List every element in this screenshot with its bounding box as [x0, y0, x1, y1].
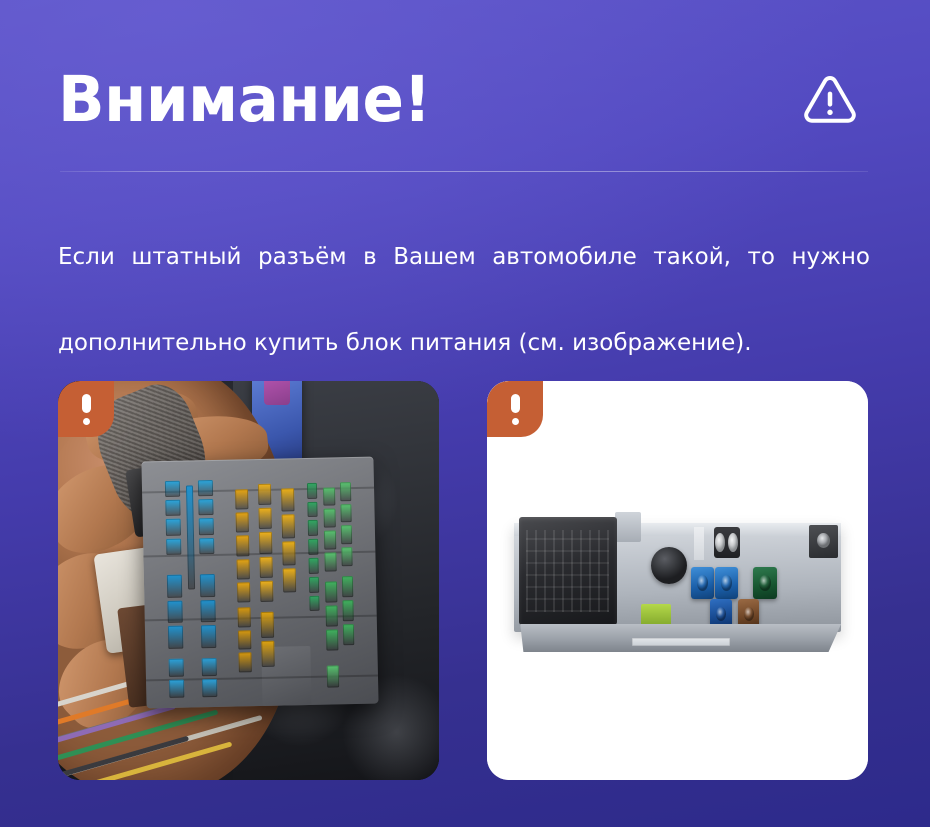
photo-pin — [340, 503, 352, 522]
photo-pin — [325, 605, 337, 626]
photo-pin-block — [323, 487, 336, 571]
photo-pin — [309, 595, 320, 611]
photo-pin — [167, 600, 183, 623]
power-supply-module — [514, 523, 842, 633]
module-label — [632, 638, 730, 646]
module-connector-pins — [526, 530, 609, 612]
photo-pin — [199, 574, 215, 597]
photo-pin — [340, 525, 352, 544]
photo-pin — [327, 665, 339, 687]
exclamation-badge — [58, 381, 114, 437]
module-rca-pair — [714, 527, 740, 558]
page-title: Внимание! — [58, 65, 431, 135]
photo-pin — [259, 532, 272, 554]
photo-pin — [236, 535, 249, 556]
photo-pin-block — [186, 485, 195, 589]
photo-pin — [323, 509, 335, 528]
photo-pin-block — [261, 612, 275, 667]
photo-pin — [200, 625, 216, 648]
photo-pin — [282, 514, 295, 538]
photo-pink-clip — [264, 381, 291, 405]
photo-pin — [201, 658, 216, 677]
banner-header: Внимание! — [58, 52, 872, 148]
photo-pin — [259, 556, 272, 578]
photo-pin — [281, 488, 294, 512]
photo-pin — [169, 680, 184, 699]
image-row — [58, 381, 868, 780]
photo-pin — [324, 552, 336, 571]
photo-pin — [237, 582, 250, 603]
photo-pin-block — [167, 574, 184, 649]
photo-pin-block — [325, 581, 338, 650]
exclamation-bar — [82, 394, 91, 413]
photo-pin — [342, 624, 354, 645]
photo-pin — [283, 568, 296, 592]
photo-pin — [200, 599, 216, 622]
photo-pin — [309, 576, 320, 592]
photo-pin — [235, 489, 248, 510]
exclamation-dot — [83, 418, 90, 425]
photo-pin — [258, 508, 271, 530]
photo-pin-block — [327, 665, 339, 687]
photo-pin-block — [201, 658, 217, 698]
fakra-blue-2 — [715, 567, 738, 600]
rca-jack — [728, 533, 738, 552]
photo-pin-block — [339, 482, 352, 566]
rca-jack — [715, 533, 725, 552]
photo-pin-block — [199, 574, 216, 649]
photo-pin — [341, 547, 353, 566]
photo-pin — [260, 581, 273, 603]
photo-pin — [166, 538, 181, 555]
photo-pin — [198, 499, 213, 516]
exclamation-bar — [511, 394, 520, 413]
photo-pin — [258, 483, 271, 505]
card-power-supply-photo[interactable] — [487, 381, 868, 780]
module-green-key — [641, 604, 670, 626]
photo-grey-connector-body — [141, 456, 379, 708]
power-supply-photo — [487, 381, 868, 780]
photo-pin — [308, 539, 319, 555]
fakra-green — [753, 567, 778, 600]
photo-pin-block — [169, 658, 185, 698]
photo-pin — [326, 629, 338, 650]
photo-pin — [165, 500, 180, 517]
photo-pin — [238, 630, 251, 650]
photo-pin — [236, 559, 249, 580]
exclamation-dot — [512, 418, 519, 425]
connector-photo — [58, 381, 439, 780]
photo-pin — [237, 607, 250, 627]
photo-pin-block — [341, 576, 354, 645]
photo-pin — [261, 612, 274, 638]
photo-pin — [282, 541, 295, 565]
exclamation-badge — [487, 381, 543, 437]
body-line-2: дополнительно купить блок питания (см. и… — [58, 322, 870, 365]
module-sticker — [694, 527, 704, 560]
photo-pin-block — [237, 607, 251, 672]
photo-pin-block — [258, 483, 273, 602]
photo-pin — [307, 482, 318, 498]
photo-pin-block — [281, 488, 296, 592]
banner-body-text: Если штатный разъём в Вашем автомобиле т… — [58, 236, 870, 365]
body-line-1: Если штатный разъём в Вашем автомобиле т… — [58, 236, 870, 322]
photo-pin — [324, 530, 336, 549]
exclamation-icon — [82, 394, 91, 424]
photo-pin — [307, 520, 318, 536]
photo-pin — [168, 626, 184, 649]
warning-triangle-icon — [800, 70, 860, 130]
photo-pin — [169, 658, 184, 677]
photo-pin — [323, 487, 335, 506]
photo-pin — [201, 679, 216, 698]
fakra-blue-1 — [691, 567, 714, 600]
photo-pin — [235, 512, 248, 533]
photo-pin — [166, 519, 181, 536]
photo-pin — [341, 576, 353, 597]
photo-pin-block — [235, 489, 250, 603]
header-divider — [60, 171, 868, 172]
photo-pin — [308, 557, 319, 573]
photo-pin — [199, 537, 214, 554]
photo-pin — [261, 641, 274, 667]
photo-pin-block — [307, 482, 320, 611]
photo-pin — [198, 518, 213, 535]
photo-pin-block — [197, 480, 214, 555]
photo-pin — [238, 652, 251, 672]
photo-pin — [186, 485, 195, 589]
exclamation-icon — [511, 394, 520, 424]
card-connector-photo[interactable] — [58, 381, 439, 780]
module-corner-screw — [809, 525, 838, 558]
photo-pin — [307, 501, 318, 517]
module-tab — [615, 512, 641, 543]
warning-banner: Внимание! Если штатный разъём в Вашем ав… — [0, 0, 930, 827]
module-main-connector — [519, 517, 617, 625]
photo-pin-block — [165, 480, 182, 555]
photo-pin — [165, 480, 180, 497]
photo-pin — [167, 574, 183, 597]
photo-pin — [342, 600, 354, 621]
photo-pin — [339, 482, 351, 501]
photo-pin — [197, 480, 212, 497]
photo-pin — [325, 581, 337, 602]
